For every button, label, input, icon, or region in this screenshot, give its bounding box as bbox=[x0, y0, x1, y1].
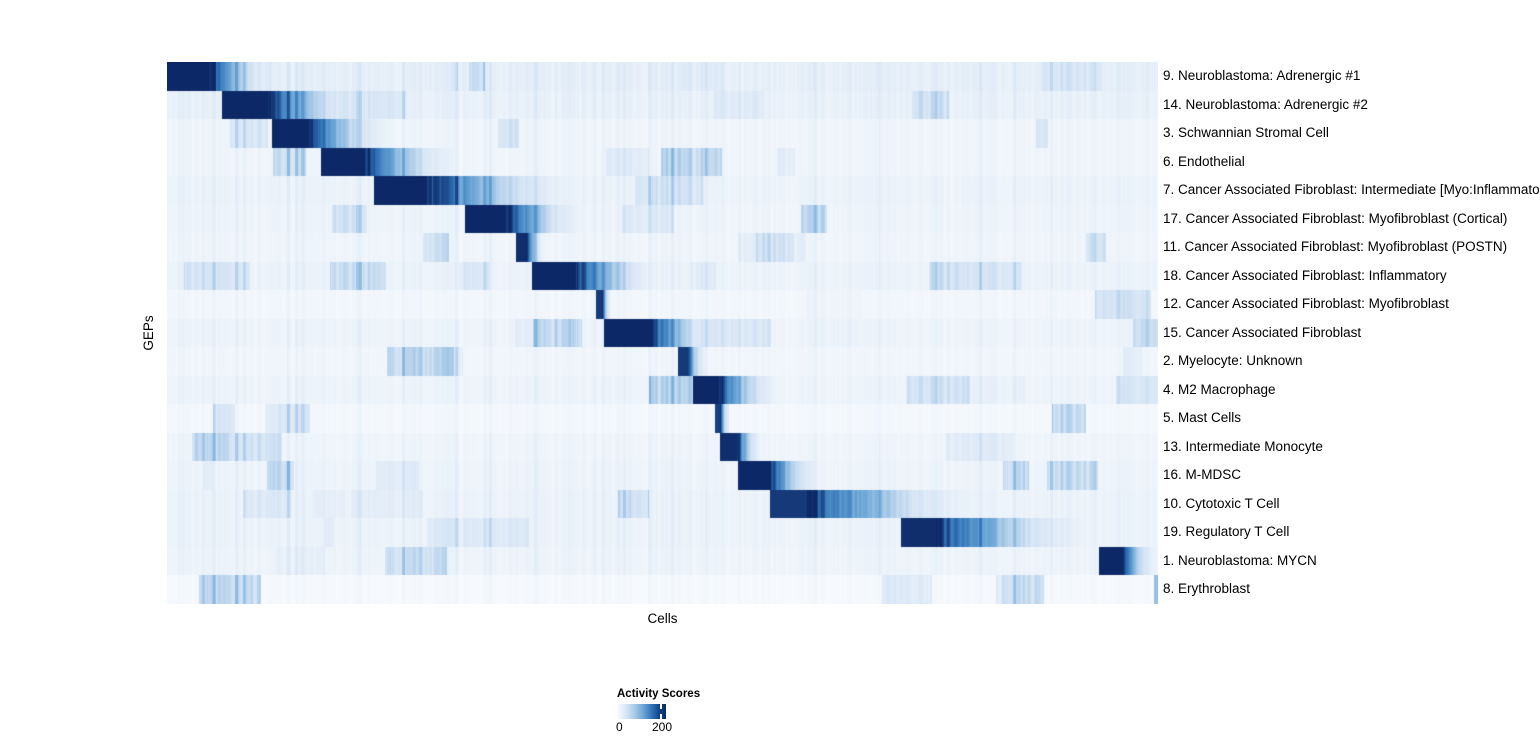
row-label: 6. Endothelial bbox=[1163, 148, 1245, 177]
row-label: 16. M-MDSC bbox=[1163, 461, 1241, 490]
legend-tick-label-min: 0 bbox=[616, 720, 623, 734]
row-label: 13. Intermediate Monocyte bbox=[1163, 433, 1323, 462]
row-label: 5. Mast Cells bbox=[1163, 404, 1241, 433]
row-label: 9. Neuroblastoma: Adrenergic #1 bbox=[1163, 62, 1360, 91]
legend-title: Activity Scores bbox=[617, 688, 836, 700]
y-axis-title-wrap: GEPs bbox=[141, 62, 161, 604]
x-axis-title: Cells bbox=[167, 611, 1158, 626]
row-label: 1. Neuroblastoma: MYCN bbox=[1163, 547, 1317, 576]
row-label: 7. Cancer Associated Fibroblast: Interme… bbox=[1163, 176, 1540, 205]
row-label: 17. Cancer Associated Fibroblast: Myofib… bbox=[1163, 205, 1507, 234]
legend: Activity Scores 0 200 bbox=[616, 688, 836, 736]
row-label-list: 9. Neuroblastoma: Adrenergic #114. Neuro… bbox=[1163, 62, 1540, 604]
row-label: 4. M2 Macrophage bbox=[1163, 376, 1276, 405]
y-axis-title: GEPs bbox=[141, 62, 156, 604]
row-label: 19. Regulatory T Cell bbox=[1163, 518, 1289, 547]
row-label: 3. Schwannian Stromal Cell bbox=[1163, 119, 1329, 148]
heatmap-canvas bbox=[167, 62, 1158, 604]
row-label: 18. Cancer Associated Fibroblast: Inflam… bbox=[1163, 262, 1447, 291]
legend-tick-label-max: 200 bbox=[652, 720, 672, 734]
row-label: 10. Cytotoxic T Cell bbox=[1163, 490, 1280, 519]
row-label: 2. Myelocyte: Unknown bbox=[1163, 347, 1303, 376]
legend-tick-top bbox=[660, 704, 662, 709]
row-label: 15. Cancer Associated Fibroblast bbox=[1163, 319, 1361, 348]
row-label: 8. Erythroblast bbox=[1163, 575, 1250, 604]
legend-tick-bottom bbox=[660, 714, 662, 719]
row-label: 11. Cancer Associated Fibroblast: Myofib… bbox=[1163, 233, 1507, 262]
row-label: 14. Neuroblastoma: Adrenergic #2 bbox=[1163, 91, 1368, 120]
heatmap-figure: GEPs Cells 9. Neuroblastoma: Adrenergic … bbox=[0, 0, 1540, 743]
heatmap-plot bbox=[167, 62, 1158, 604]
row-label: 12. Cancer Associated Fibroblast: Myofib… bbox=[1163, 290, 1449, 319]
legend-colorbar bbox=[616, 704, 666, 719]
legend-tick-labels: 0 200 bbox=[616, 720, 706, 736]
